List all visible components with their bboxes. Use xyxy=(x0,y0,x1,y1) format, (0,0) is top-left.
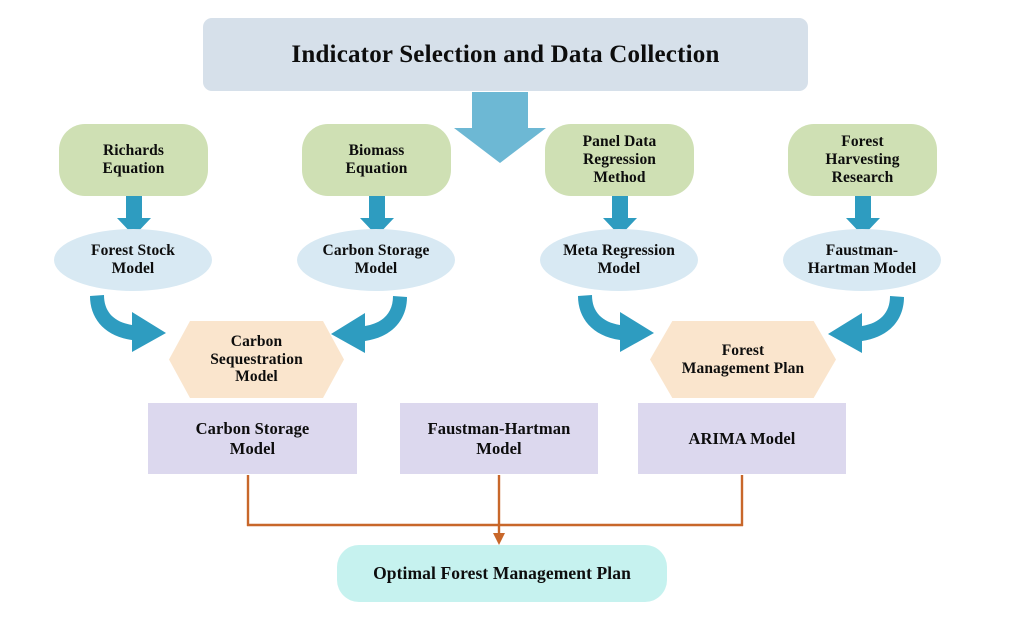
model-node-forest-stock-model[interactable]: Forest Stock Model xyxy=(54,229,212,291)
main-down-arrow-icon xyxy=(454,92,546,163)
output-node-faustman-hartman-model[interactable]: Faustman-Hartman Model xyxy=(400,403,598,474)
page-title: Indicator Selection and Data Collection xyxy=(203,18,808,91)
bracket-connector xyxy=(247,475,743,537)
hexagon-node-forest-management-plan[interactable]: Forest Management Plan xyxy=(650,321,836,398)
output-node-arima-model[interactable]: ARIMA Model xyxy=(638,403,846,474)
final-arrowhead-icon xyxy=(493,533,505,545)
curved-arrow-icon-left-from-right xyxy=(331,296,407,353)
hexagon-node-carbon-sequestration-model[interactable]: Carbon Sequestration Model xyxy=(169,321,344,398)
model-node-carbon-storage-model[interactable]: Carbon Storage Model xyxy=(297,229,455,291)
curved-arrow-icon-right-from-right xyxy=(828,296,904,353)
connector-layer xyxy=(0,0,1027,626)
output-node-carbon-storage-model[interactable]: Carbon Storage Model xyxy=(148,403,357,474)
source-node-biomass-equation[interactable]: Biomass Equation xyxy=(302,124,451,196)
model-node-faustman-hartman-model[interactable]: Faustman- Hartman Model xyxy=(783,229,941,291)
curved-arrow-icon-left-in xyxy=(90,295,166,352)
final-node-optimal-forest-management-plan[interactable]: Optimal Forest Management Plan xyxy=(337,545,667,602)
source-node-forest-harvesting-research[interactable]: Forest Harvesting Research xyxy=(788,124,937,196)
model-node-meta-regression-model[interactable]: Meta Regression Model xyxy=(540,229,698,291)
flowchart-canvas: Indicator Selection and Data Collection … xyxy=(0,0,1027,626)
source-node-richards-equation[interactable]: Richards Equation xyxy=(59,124,208,196)
curved-arrow-icon-right-in xyxy=(578,295,654,352)
source-node-panel-data-regression-method[interactable]: Panel Data Regression Method xyxy=(545,124,694,196)
